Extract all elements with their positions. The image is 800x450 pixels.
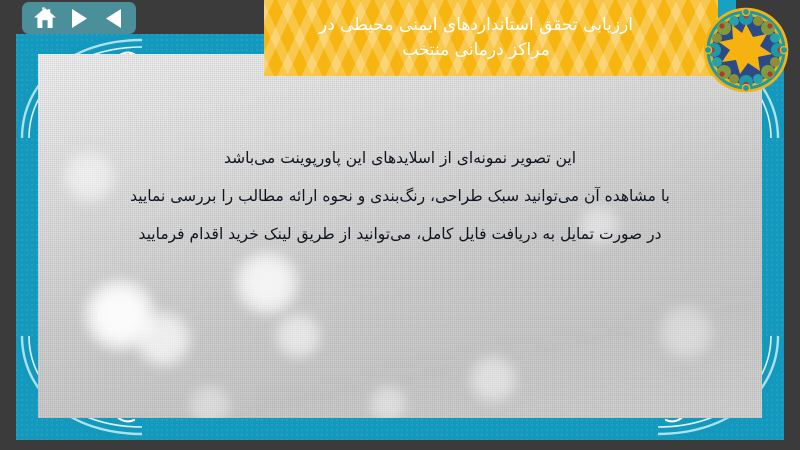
persian-tile-medallion bbox=[700, 4, 792, 96]
body-line-3: در صورت تمایل به دریافت فایل کامل، می‌تو… bbox=[56, 216, 744, 254]
bokeh-circle bbox=[274, 312, 322, 360]
body-line-1: این تصویر نمونه‌ای از اسلایدهای این پاور… bbox=[56, 140, 744, 178]
bokeh-circle bbox=[468, 354, 518, 404]
slide-title-banner: ارزیابی تحقق استانداردهای ایمنی محیطی در… bbox=[264, 0, 736, 76]
body-line-2: با مشاهده آن می‌توانید سبک طراحی، رنگ‌بن… bbox=[56, 178, 744, 216]
triangle-right-icon bbox=[71, 9, 88, 28]
previous-slide-button[interactable] bbox=[99, 5, 127, 31]
bokeh-circle bbox=[83, 278, 157, 352]
home-button[interactable] bbox=[31, 5, 59, 31]
bokeh-circle bbox=[234, 250, 300, 316]
slide-navigation-toolbar bbox=[22, 2, 136, 34]
bokeh-circle bbox=[658, 304, 714, 360]
bokeh-circle bbox=[368, 384, 408, 418]
next-slide-button[interactable] bbox=[65, 5, 93, 31]
slide-viewer: این تصویر نمونه‌ای از اسلایدهای این پاور… bbox=[0, 0, 800, 450]
presentation-slide: این تصویر نمونه‌ای از اسلایدهای این پاور… bbox=[16, 34, 784, 440]
slide-title-line-1: ارزیابی تحقق استانداردهای ایمنی محیطی در bbox=[319, 13, 633, 38]
triangle-left-icon bbox=[105, 9, 122, 28]
banner-chevron-pattern: ارزیابی تحقق استانداردهای ایمنی محیطی در… bbox=[264, 0, 718, 76]
bokeh-circle bbox=[188, 384, 232, 418]
home-icon bbox=[33, 7, 57, 29]
slide-title-line-2: مراکز درمانی منتخب bbox=[402, 38, 550, 63]
slide-body-text: این تصویر نمونه‌ای از اسلایدهای این پاور… bbox=[56, 140, 744, 254]
bokeh-circle bbox=[134, 310, 192, 368]
